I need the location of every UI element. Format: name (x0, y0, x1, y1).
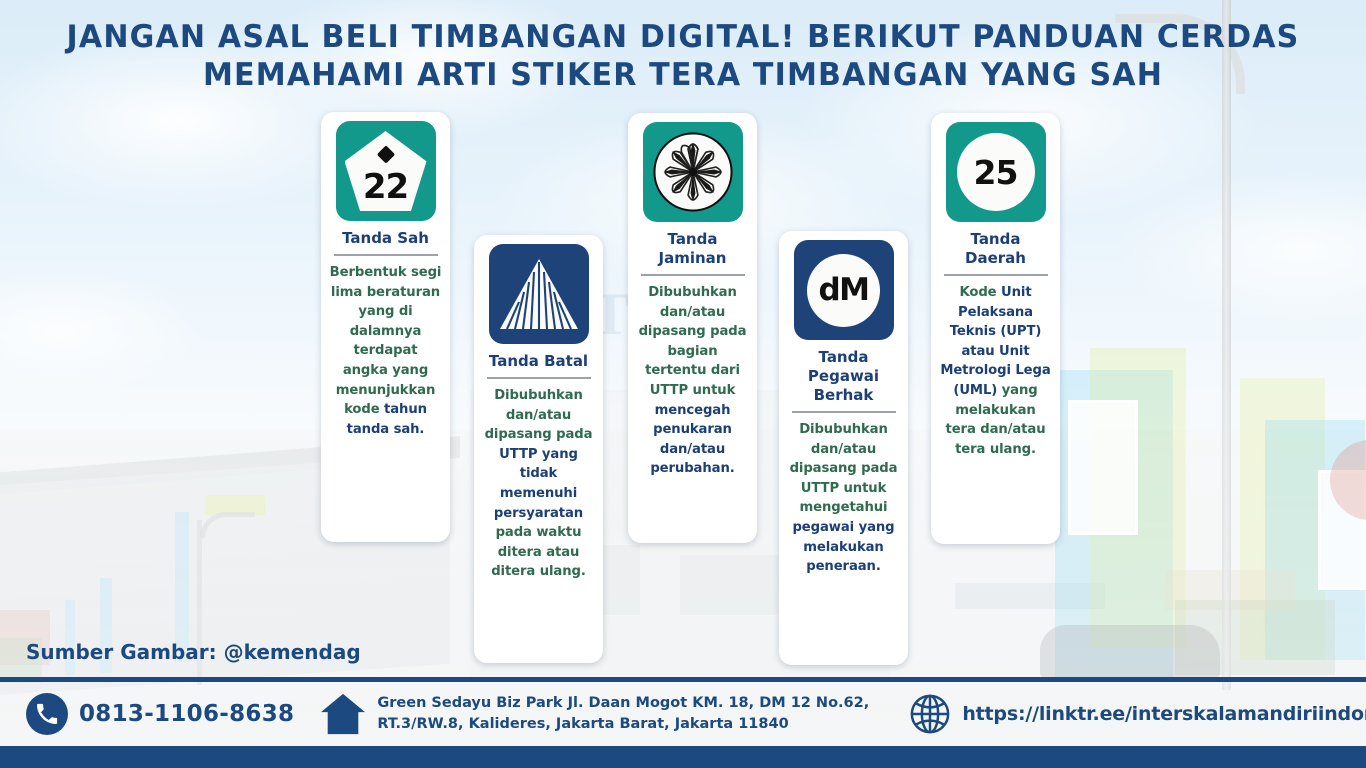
cards-row: 22 Tanda Sah Berbentuk segi lima beratur… (0, 0, 1366, 700)
star-rosette-icon (652, 131, 734, 213)
card-divider (487, 377, 591, 379)
number-circle-icon: 25 (957, 133, 1035, 211)
card-title: Tanda Batal (489, 352, 588, 371)
card-body: Dibubuhkan dan/atau dipasang pada UTTP u… (787, 420, 900, 577)
phone-icon (26, 693, 68, 735)
badge-value: dM (818, 272, 868, 308)
footer-website-text: https://linktr.ee/interskalamandiriindon… (962, 703, 1366, 725)
rhombus-icon (376, 145, 394, 163)
footer-address-text: Green Sedayu Biz Park Jl. Daan Mogot KM.… (377, 693, 887, 735)
dm-circle-icon: dM (807, 254, 880, 327)
pentagon-icon: 22 (345, 131, 427, 211)
badge-tanda-batal (489, 244, 589, 344)
badge-tanda-sah: 22 (336, 121, 436, 221)
card-body: Dibubuhkan dan/atau dipasang pada bagian… (636, 283, 749, 479)
card-divider (792, 411, 896, 413)
card-tanda-batal[interactable]: Tanda Batal Dibubuhkan dan/atau dipasang… (474, 235, 603, 663)
globe-icon (909, 693, 951, 735)
card-body: Dibubuhkan dan/atau dipasang pada UTTP y… (482, 386, 595, 582)
footer-phone-text: 0813-1106-8638 (79, 701, 294, 727)
footer-phone[interactable]: 0813-1106-8638 (26, 693, 294, 735)
badge-tanda-daerah: 25 (946, 122, 1046, 222)
badge-value: 25 (974, 153, 1018, 192)
card-body: Kode Unit Pelaksana Teknis (UPT) atau Un… (939, 283, 1052, 459)
badge-value: 22 (363, 170, 408, 204)
footer-website[interactable]: https://linktr.ee/interskalamandiriindon… (909, 693, 1366, 735)
card-title: Tanda Sah (342, 229, 429, 248)
card-body: Berbentuk segi lima beraturan yang di da… (329, 263, 442, 439)
home-icon (320, 692, 366, 736)
card-title: Tanda Jaminan (636, 230, 749, 268)
card-tanda-pegawai-berhak[interactable]: dM Tanda Pegawai Berhak Dibubuhkan dan/a… (779, 231, 908, 665)
triangle-icon (497, 256, 581, 332)
card-divider (641, 274, 745, 276)
footer-address: Green Sedayu Biz Park Jl. Daan Mogot KM.… (320, 692, 887, 736)
source-credit: Sumber Gambar: @kemendag (26, 640, 361, 664)
card-tanda-sah[interactable]: 22 Tanda Sah Berbentuk segi lima beratur… (321, 112, 450, 542)
card-divider (334, 254, 438, 256)
card-tanda-daerah[interactable]: 25 Tanda Daerah Kode Unit Pelaksana Tekn… (931, 113, 1060, 544)
footer-bottom-bar (0, 746, 1366, 768)
badge-tanda-pegawai-berhak: dM (794, 240, 894, 340)
footer: 0813-1106-8638 Green Sedayu Biz Park Jl.… (0, 682, 1366, 746)
card-title: Tanda Daerah (939, 230, 1052, 268)
card-divider (944, 274, 1048, 276)
badge-tanda-jaminan (643, 122, 743, 222)
card-title: Tanda Pegawai Berhak (787, 348, 900, 405)
card-tanda-jaminan[interactable]: Tanda Jaminan Dibubuhkan dan/atau dipasa… (628, 113, 757, 543)
